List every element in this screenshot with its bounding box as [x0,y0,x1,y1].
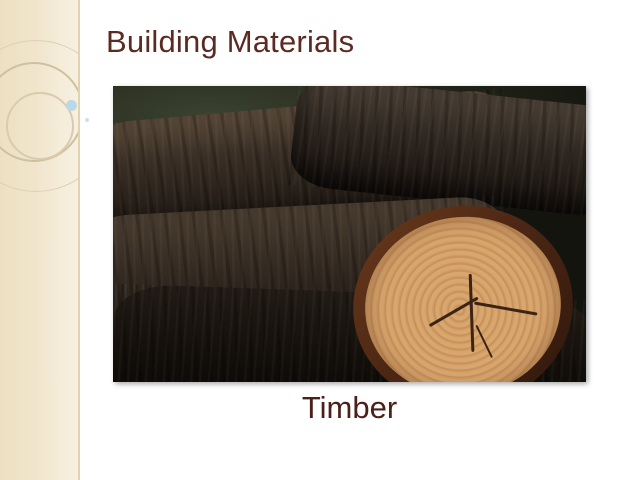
small-dot-icon [85,118,89,122]
band-edge-divider [78,0,80,480]
slide: Building Materials [0,0,640,480]
ring-crack [469,274,475,352]
timber-logs-photo [113,86,586,382]
cut-log-end [353,206,573,382]
page-title: Building Materials [106,24,606,60]
medium-ring-icon [6,92,74,160]
photo-canvas [113,86,586,382]
tree-rings [354,204,573,382]
ring-crack [474,302,538,316]
blue-dot-icon [66,100,77,111]
image-caption: Timber [113,390,586,426]
left-decorative-band [0,0,80,480]
ring-crack [475,325,493,358]
